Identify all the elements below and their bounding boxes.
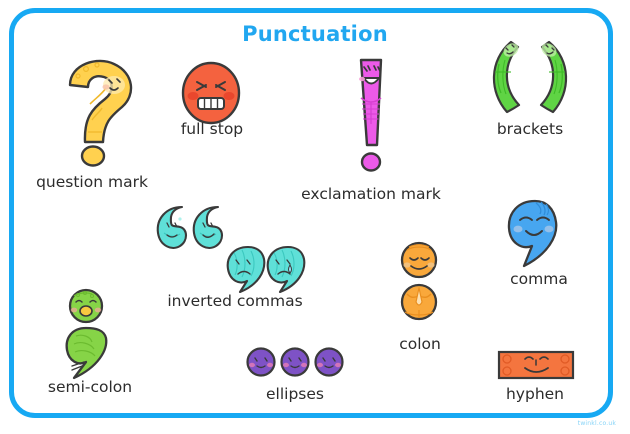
semi-colon-illustration: [58, 288, 118, 380]
ellipses-illustration: [246, 347, 344, 379]
colon-label: colon: [385, 335, 455, 353]
inverted-commas-illustration: [152, 203, 312, 293]
colon-illustration: [393, 240, 445, 324]
brackets-illustration: [481, 38, 579, 116]
question-mark-illustration: [52, 52, 152, 167]
comma-illustration: [504, 198, 570, 270]
watermark: twinkl.co.uk: [578, 420, 616, 427]
punctuation-poster: Punctuation question mark: [0, 0, 630, 434]
exclamation-mark-illustration: [347, 52, 395, 172]
hyphen-label: hyphen: [490, 385, 580, 403]
exclamation-mark-label: exclamation mark: [281, 185, 461, 203]
question-mark-label: question mark: [22, 173, 162, 191]
full-stop-label: full stop: [158, 120, 266, 138]
semi-colon-label: semi-colon: [30, 378, 150, 396]
inverted-commas-label: inverted commas: [145, 292, 325, 310]
comma-label: comma: [494, 270, 584, 288]
brackets-label: brackets: [480, 120, 580, 138]
ellipses-label: ellipses: [245, 385, 345, 403]
hyphen-illustration: [497, 348, 575, 382]
full-stop-illustration: [178, 60, 244, 126]
